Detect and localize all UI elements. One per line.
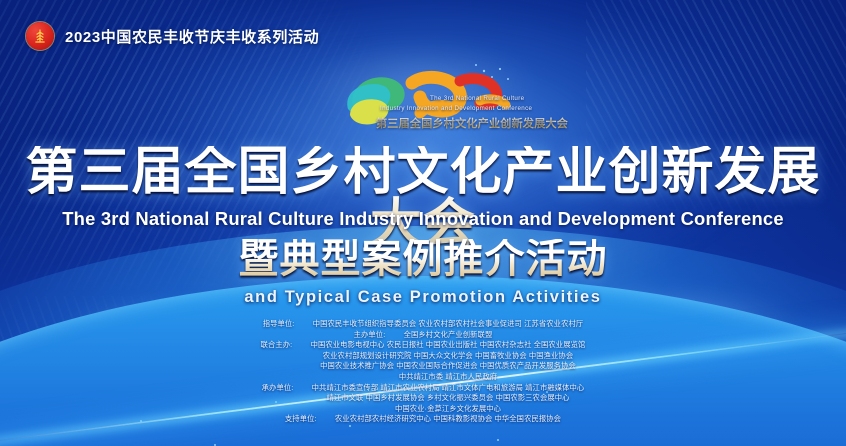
page-subtitle-english: and Typical Case Promotion Activities [0, 288, 846, 307]
credit-value: 中国农民丰收节组织指导委员会 农业农村部农村社会事业促进司 江苏省农业农村厅 [313, 319, 584, 330]
header-title: 2023中国农民丰收节庆丰收系列活动 [65, 26, 319, 47]
credit-label: 主办单位: [354, 330, 404, 341]
credit-row: 承办单位:中国农业·金草江乡文化发展中心 [345, 404, 501, 415]
credit-row: 联合主办:中共靖江市委 靖江市人民政府 [349, 372, 497, 383]
credit-value: 中国农业技术推广协会 中国农业国际合作促进会 中国优质农产品开发服务协会 [320, 361, 576, 372]
page-title: 第三届全国乡村文化产业创新发展大会 [0, 146, 846, 250]
credit-label: 联合主办: [261, 340, 311, 351]
credit-value: 中共靖江市委 靖江市人民政府 [399, 372, 497, 383]
credit-label: 指导单位: [263, 319, 313, 330]
credit-row: 支持单位:农业农村部农村经济研究中心 中国科教影视协会 中华全国农民报协会 [285, 414, 561, 425]
credit-row: 承办单位:中共靖江市委宣传部 靖江市农业农村局 靖江市文体广电和旅游局 靖江市融… [262, 383, 585, 394]
logo-english-line-1: The 3rd National Rural Culture [430, 95, 524, 102]
wheat-emblem-icon [26, 22, 54, 50]
credits-block: 指导单位:中国农民丰收节组织指导委员会 农业农村部农村社会事业促进司 江苏省农业… [0, 319, 846, 425]
credit-label: 承办单位: [262, 383, 312, 394]
credit-row: 指导单位:中国农民丰收节组织指导委员会 农业农村部农村社会事业促进司 江苏省农业… [263, 319, 584, 330]
credit-value: 农业农村部农村经济研究中心 中国科教影视协会 中华全国农民报协会 [335, 414, 561, 425]
credit-label: 支持单位: [285, 414, 335, 425]
credit-value: 中国农业电影电视中心 农民日报社 中国农业出版社 中国农村杂志社 全国农业展览馆 [311, 340, 586, 351]
credit-value: 靖江市文联 中国乡村发展协会 乡村文化振兴委员会 中国农影三农会展中心 [326, 393, 569, 404]
conference-poster: 2023中国农民丰收节庆丰收系列活动 The 3rd National Rura… [0, 0, 846, 446]
logo-english-line-2: Industry Innovation and Development Conf… [380, 105, 532, 112]
credit-row: 联合主办:中国农业技术推广协会 中国农业国际合作促进会 中国优质农产品开发服务协… [270, 361, 576, 372]
credit-value: 中国农业·金草江乡文化发展中心 [395, 404, 501, 415]
credit-value: 全国乡村文化产业创新联盟 [404, 330, 493, 341]
page-title-english: The 3rd National Rural Culture Industry … [0, 208, 846, 230]
credit-value: 农业农村部规划设计研究院 中国大众文化学会 中国畜牧业协会 中国渔业协会 [323, 351, 573, 362]
credit-row: 承办单位:靖江市文联 中国乡村发展协会 乡村文化振兴委员会 中国农影三农会展中心 [276, 393, 569, 404]
credit-value: 中共靖江市委宣传部 靖江市农业农村局 靖江市文体广电和旅游局 靖江市融媒体中心 [312, 383, 585, 394]
page-subtitle: 暨典型案例推介活动 [0, 239, 846, 279]
credit-row: 联合主办:中国农业电影电视中心 农民日报社 中国农业出版社 中国农村杂志社 全国… [261, 340, 586, 351]
credit-row: 主办单位:全国乡村文化产业创新联盟 [354, 330, 493, 341]
logo-chinese-name: 第三届全国乡村文化产业创新发展大会 [376, 115, 568, 131]
credit-row: 联合主办:农业农村部规划设计研究院 中国大众文化学会 中国畜牧业协会 中国渔业协… [273, 351, 573, 362]
conference-logo: The 3rd National Rural Culture Industry … [334, 57, 540, 141]
header-banner: 2023中国农民丰收节庆丰收系列活动 [26, 22, 319, 50]
